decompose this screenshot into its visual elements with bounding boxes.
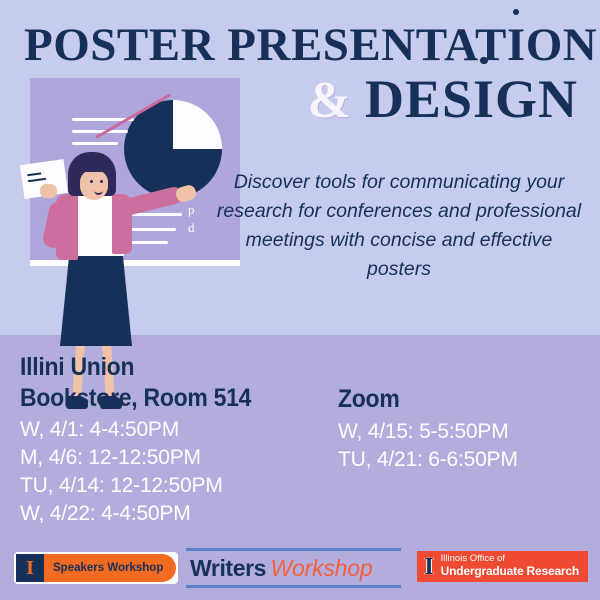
workshop-word: Workshop [270, 555, 372, 581]
dotted-i-glyph: I [473, 69, 495, 129]
session-item: TU, 4/14: 12-12:50PM [20, 472, 330, 500]
speakers-workshop-logo[interactable]: I Speakers Workshop [14, 552, 178, 584]
session-item: M, 4/6: 12-12:50PM [20, 444, 330, 472]
venue-heading-line-2: Bookstore, Room 514 [20, 383, 305, 414]
illinois-block-i-icon: I [16, 554, 44, 582]
footer-logo-bar: I Speakers Workshop Writers Workshop I I… [0, 548, 600, 592]
poster-canvas: POSTER PRESENTATION &DESIGN Discover too… [0, 0, 600, 600]
poster-board-base [30, 260, 240, 266]
presenter-face [80, 170, 108, 200]
board-text-line [72, 142, 118, 145]
block-i-glyph: I [26, 558, 34, 578]
session-list: W, 4/1: 4-4:50PM M, 4/6: 12-12:50PM TU, … [20, 416, 330, 529]
writers-workshop-wordmark: Writers Workshop [186, 551, 401, 585]
presenter-eye [100, 180, 103, 183]
presenter-left-hand [40, 184, 57, 198]
presenter-skirt [60, 246, 132, 346]
session-item: W, 4/1: 4-4:50PM [20, 416, 330, 444]
session-list: W, 4/15: 5-5:50PM TU, 4/21: 6-6:50PM [338, 418, 588, 474]
poster-title-line-1: POSTER PRESENTATION [24, 22, 600, 69]
session-item: W, 4/15: 5-5:50PM [338, 418, 588, 446]
ur-line-2: Undergraduate Research [441, 565, 579, 578]
session-item: TU, 4/21: 6-6:50PM [338, 446, 588, 474]
undergraduate-research-logo[interactable]: I Illinois Office of Undergraduate Resea… [417, 551, 588, 582]
board-glyph-bottom: d [188, 220, 195, 236]
venue-heading-zoom: Zoom [338, 384, 568, 415]
writers-word: Writers [190, 555, 266, 581]
dotted-i-glyph: I [507, 19, 526, 71]
speakers-workshop-pill: Speakers Workshop [44, 554, 176, 582]
rule-bottom [186, 585, 401, 588]
board-glyph-top: p [188, 202, 195, 218]
presenter-eye [90, 180, 93, 183]
session-item: W, 4/22: 4-4:50PM [20, 500, 330, 528]
venue-heading-line-1: Illini Union [20, 352, 305, 383]
poster-description: Discover tools for communicating your re… [216, 168, 582, 283]
schedule-column-zoom: Zoom W, 4/15: 5-5:50PM TU, 4/21: 6-6:50P… [338, 384, 588, 474]
undergraduate-research-wordmark: Illinois Office of Undergraduate Researc… [441, 554, 579, 578]
poster-title-line-2: &DESIGN [0, 72, 600, 127]
schedule-column-illini-union: Illini Union Bookstore, Room 514 W, 4/1:… [20, 352, 330, 529]
presenter-hair-fringe [72, 154, 112, 172]
poster-title-design: DESIGN [365, 69, 578, 129]
ampersand: & [308, 72, 351, 129]
speakers-workshop-label: Speakers Workshop [53, 562, 163, 574]
title-block: POSTER PRESENTATION &DESIGN [0, 0, 600, 69]
presenter-cardigan-right [112, 194, 132, 254]
writers-workshop-logo[interactable]: Writers Workshop [186, 548, 401, 588]
illinois-block-i-icon: I [424, 555, 433, 579]
